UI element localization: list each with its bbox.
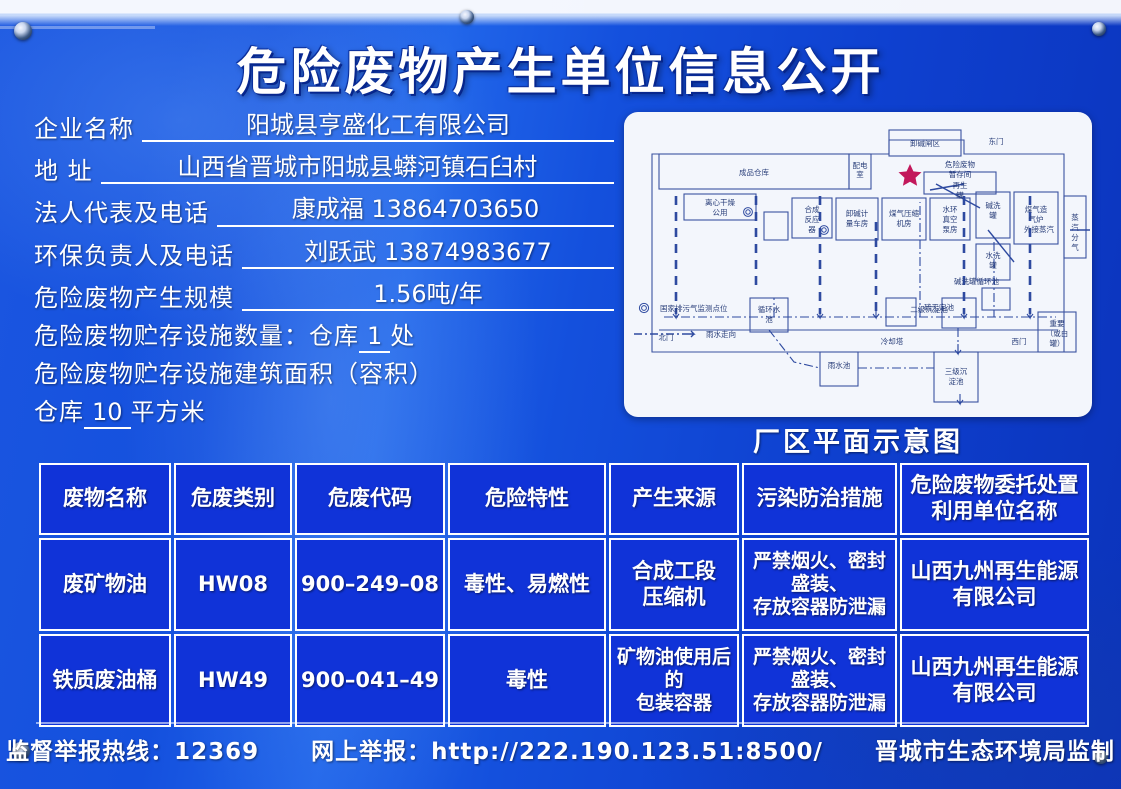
- svg-text:量车房: 量车房: [846, 218, 869, 228]
- svg-text:硫无定池: 硫无定池: [924, 302, 954, 312]
- info-row-env-officer: 环保负责人及电话 刘跃武 13874983677: [34, 240, 614, 269]
- svg-text:重要: 重要: [1050, 319, 1066, 328]
- cell-disposal-line2: 有限公司: [903, 681, 1086, 707]
- footer-divider: [36, 722, 1085, 724]
- svg-text:成品仓库: 成品仓库: [739, 167, 769, 177]
- svg-text:罐: 罐: [956, 190, 964, 200]
- th-disposal-unit: 危险废物委托处置 利用单位名称: [900, 463, 1089, 535]
- cell-hazard-property: 毒性、易燃性: [448, 538, 606, 631]
- svg-text:离心干燥: 离心干燥: [705, 197, 735, 207]
- info-label-company: 企业名称: [34, 117, 134, 142]
- th-disposal-unit-line2: 利用单位名称: [903, 499, 1086, 525]
- svg-text:水洗: 水洗: [986, 250, 1001, 260]
- information-board: 危险废物产生单位信息公开 企业名称 阳城县亨盛化工有限公司 地 址 山西省晋城市…: [0, 0, 1121, 789]
- th-waste-code: 危废代码: [295, 463, 445, 535]
- svg-text:分: 分: [1071, 233, 1079, 242]
- cell-control-measures: 严禁烟火、密封盛装、 存放容器防泄漏: [742, 538, 897, 631]
- svg-text:雨水池: 雨水池: [828, 360, 851, 370]
- footer-hotline: 监督举报热线：12369: [6, 732, 259, 766]
- svg-text:煤气压缩: 煤气压缩: [889, 208, 919, 218]
- svg-text:水环: 水环: [943, 204, 958, 214]
- cell-source: 合成工段 压缩机: [609, 538, 739, 631]
- svg-text:罐: 罐: [989, 210, 997, 220]
- hazardous-waste-table: 废物名称 危废类别 危废代码 危险特性 产生来源 污染防治措施 危险废物委托处置…: [36, 460, 1088, 730]
- svg-text:配电: 配电: [853, 160, 868, 170]
- svg-text:（或白: （或白: [1046, 328, 1069, 338]
- bolt-top-center: [460, 10, 474, 24]
- svg-text:西门: 西门: [1012, 337, 1027, 346]
- table-header-row: 废物名称 危废类别 危废代码 危险特性 产生来源 污染防治措施 危险废物委托处置…: [39, 463, 1089, 535]
- cell-hazard-property: 毒性: [448, 634, 606, 727]
- footer-online-report: 网上举报：http://222.190.123.51:8500/: [311, 732, 823, 766]
- cell-control-line2: 存放容器防泄漏: [745, 692, 894, 715]
- svg-text:池: 池: [765, 314, 773, 324]
- footer-issuer: 晋城市生态环境局监制: [875, 732, 1115, 766]
- info-row-address: 地 址 山西省晋城市阳城县蟒河镇石臼村: [34, 155, 614, 184]
- cell-disposal-line1: 山西九州再生能源: [903, 655, 1086, 681]
- cell-waste-category: HW08: [174, 538, 292, 631]
- th-source: 产生来源: [609, 463, 739, 535]
- th-waste-name: 废物名称: [39, 463, 171, 535]
- info-value-legal-rep: 康成福 13864703650: [217, 197, 614, 226]
- svg-text:北门: 北门: [659, 333, 674, 342]
- cell-control-line1: 严禁烟火、密封盛装、: [745, 550, 894, 596]
- page-title: 危险废物产生单位信息公开: [0, 32, 1121, 104]
- cell-disposal-unit: 山西九州再生能源 有限公司: [900, 634, 1089, 727]
- info-label-env-officer: 环保负责人及电话: [34, 244, 234, 269]
- svg-text:国家排污气监测点位: 国家排污气监测点位: [660, 303, 728, 313]
- info-row-generation-scale: 危险废物产生规模 1.56吨/年: [34, 282, 614, 311]
- cell-disposal-line2: 有限公司: [903, 585, 1086, 611]
- svg-text:反应: 反应: [805, 214, 820, 224]
- info-value-env-officer: 刘跃武 13874983677: [242, 240, 614, 269]
- svg-text:三级沉: 三级沉: [945, 366, 968, 376]
- info-value-storage-area: 10: [84, 398, 131, 429]
- svg-text:合成: 合成: [805, 204, 820, 214]
- info-value-company: 阳城县亨盛化工有限公司: [142, 113, 614, 142]
- svg-text:真空: 真空: [943, 214, 958, 224]
- table-row: 铁质废油桶 HW49 900–041–49 毒性 矿物油使用后的 包装容器 严禁…: [39, 634, 1089, 727]
- info-label-generation-scale: 危险废物产生规模: [34, 286, 234, 311]
- company-info-block: 企业名称 阳城县亨盛化工有限公司 地 址 山西省晋城市阳城县蟒河镇石臼村 法人代…: [34, 113, 614, 439]
- cell-control-line2: 存放容器防泄漏: [745, 596, 894, 619]
- cell-waste-code: 900–249–08: [295, 538, 445, 631]
- svg-text:再生: 再生: [953, 180, 968, 190]
- footer: 监督举报热线：12369 网上举报：http://222.190.123.51:…: [0, 732, 1121, 766]
- svg-text:罐: 罐: [989, 260, 997, 270]
- table-row: 废矿物油 HW08 900–249–08 毒性、易燃性 合成工段 压缩机 严禁烟…: [39, 538, 1089, 631]
- info-value-address: 山西省晋城市阳城县蟒河镇石臼村: [101, 155, 614, 184]
- svg-text:煤气造: 煤气造: [1025, 204, 1048, 214]
- svg-text:外接蒸汽: 外接蒸汽: [1024, 224, 1054, 234]
- svg-text:卸碱计: 卸碱计: [846, 208, 869, 218]
- info-label-legal-rep: 法人代表及电话: [34, 201, 209, 226]
- info-suffix-square-meters: 平方米: [131, 398, 206, 426]
- waste-table: 废物名称 危废类别 危废代码 危险特性 产生来源 污染防治措施 危险废物委托处置…: [36, 460, 1092, 730]
- info-row-storage-count: 危险废物贮存设施数量：仓库1处: [34, 324, 614, 349]
- svg-text:器: 器: [808, 225, 816, 234]
- svg-text:室: 室: [856, 169, 864, 179]
- cell-source-line2: 压缩机: [612, 585, 736, 611]
- cell-waste-name: 铁质废油桶: [39, 634, 171, 727]
- svg-text:危险废物: 危险废物: [945, 159, 975, 169]
- svg-text:机房: 机房: [897, 218, 912, 228]
- th-disposal-unit-line1: 危险废物委托处置: [903, 473, 1086, 499]
- diagram-caption: 厂区平面示意图: [624, 420, 1092, 459]
- info-label-storage-area: 危险废物贮存设施建筑面积（容积）: [34, 360, 434, 388]
- svg-text:东门: 东门: [989, 136, 1004, 146]
- svg-text:蒸: 蒸: [1071, 212, 1079, 222]
- factory-layout-diagram: 成品仓库 配电室 卸碱闸区 东门 危险废物暂存间 离心干燥公用 合成反应器 卸碱…: [624, 112, 1092, 417]
- info-value-storage-count: 1: [359, 322, 390, 353]
- svg-text:雨水走向: 雨水走向: [706, 329, 736, 339]
- info-value-generation-scale: 1.56吨/年: [242, 282, 614, 311]
- svg-text:碱洗罐循环池: 碱洗罐循环池: [954, 276, 999, 286]
- info-label-address: 地 址: [34, 159, 93, 184]
- info-row-legal-rep: 法人代表及电话 康成福 13864703650: [34, 197, 614, 226]
- cell-source: 矿物油使用后的 包装容器: [609, 634, 739, 727]
- svg-text:公用: 公用: [713, 208, 728, 217]
- info-label-storage-count: 危险废物贮存设施数量：仓库: [34, 322, 359, 350]
- svg-text:罐）: 罐）: [1050, 338, 1065, 348]
- svg-text:冷却塔: 冷却塔: [881, 336, 904, 346]
- th-waste-category: 危废类别: [174, 463, 292, 535]
- star-marker: [899, 164, 922, 186]
- info-row-storage-area-value: 仓库10平方米: [34, 400, 614, 425]
- svg-text:气: 气: [1071, 242, 1079, 252]
- cell-disposal-line1: 山西九州再生能源: [903, 559, 1086, 585]
- cell-disposal-unit: 山西九州再生能源 有限公司: [900, 538, 1089, 631]
- svg-text:碱洗: 碱洗: [986, 200, 1001, 210]
- info-suffix-storage-count: 处: [390, 322, 415, 350]
- th-hazard-property: 危险特性: [448, 463, 606, 535]
- info-row-company: 企业名称 阳城县亨盛化工有限公司: [34, 113, 614, 142]
- info-prefix-warehouse: 仓库: [34, 398, 84, 426]
- cell-control-line1: 严禁烟火、密封盛装、: [745, 646, 894, 692]
- cell-waste-category: HW49: [174, 634, 292, 727]
- cell-control-measures: 严禁烟火、密封盛装、 存放容器防泄漏: [742, 634, 897, 727]
- th-control-measures: 污染防治措施: [742, 463, 897, 535]
- cell-source-line2: 包装容器: [612, 692, 736, 715]
- cell-source-line1: 合成工段: [612, 559, 736, 585]
- cell-waste-name: 废矿物油: [39, 538, 171, 631]
- diagram-canvas: 成品仓库 配电室 卸碱闸区 东门 危险废物暂存间 离心干燥公用 合成反应器 卸碱…: [624, 112, 1092, 417]
- svg-text:卸碱闸区: 卸碱闸区: [910, 138, 940, 148]
- svg-text:泵房: 泵房: [943, 224, 958, 234]
- svg-text:暂存间: 暂存间: [949, 169, 972, 179]
- svg-text:淀池: 淀池: [949, 376, 964, 386]
- svg-text:循环水: 循环水: [758, 304, 781, 314]
- info-row-storage-area-label: 危险废物贮存设施建筑面积（容积）: [34, 362, 614, 387]
- svg-text:汽: 汽: [1071, 222, 1079, 232]
- cell-waste-code: 900–041–49: [295, 634, 445, 727]
- svg-text:气炉: 气炉: [1029, 214, 1044, 224]
- cell-source-line1: 矿物油使用后的: [612, 646, 736, 692]
